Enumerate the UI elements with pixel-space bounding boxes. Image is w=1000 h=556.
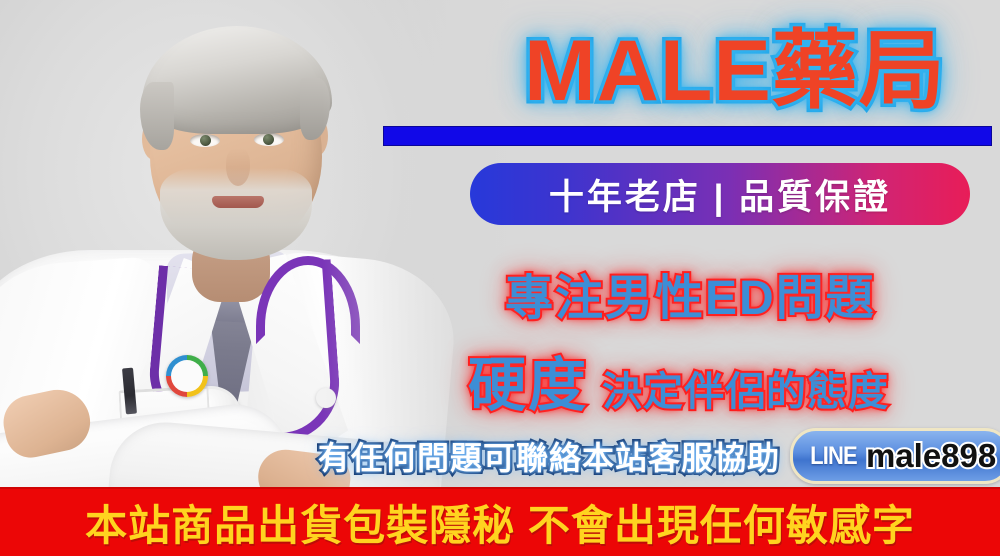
tagline-hardness-rest: 決定伴侶的態度: [602, 359, 889, 417]
trust-badge-pill: 十年老店 | 品質保證: [470, 163, 970, 225]
trust-badge-label: 十年老店 | 品質保證: [549, 169, 891, 220]
tagline-hardness-emphasis: 硬度: [468, 338, 588, 422]
tagline-ed: 專注男性ED問題: [505, 258, 876, 328]
line-contact-badge[interactable]: LINE male898: [790, 428, 1000, 484]
privacy-banner-text: 本站商品出貨包裝隱秘 不會出現任何敏感字: [85, 492, 915, 553]
promo-banner: MALE藥局 十年老店 | 品質保證 專注男性ED問題 硬度 決定伴侶的態度 有…: [0, 0, 1000, 556]
line-logo-icon: LINE: [810, 442, 857, 471]
photo-edge-fade: [0, 0, 520, 500]
tagline-hardness: 硬度 決定伴侶的態度: [468, 338, 889, 422]
contact-text: 有任何問題可聯絡本站客服協助: [318, 433, 780, 479]
privacy-banner: 本站商品出貨包裝隱秘 不會出現任何敏感字: [0, 487, 1000, 556]
line-id-value: male898: [866, 437, 996, 475]
brand-headline: MALE藥局: [470, 6, 1000, 118]
contact-row: 有任何問題可聯絡本站客服協助 LINE male898: [318, 428, 1000, 484]
doctor-photo: [0, 0, 520, 500]
divider-bar: [383, 126, 992, 146]
